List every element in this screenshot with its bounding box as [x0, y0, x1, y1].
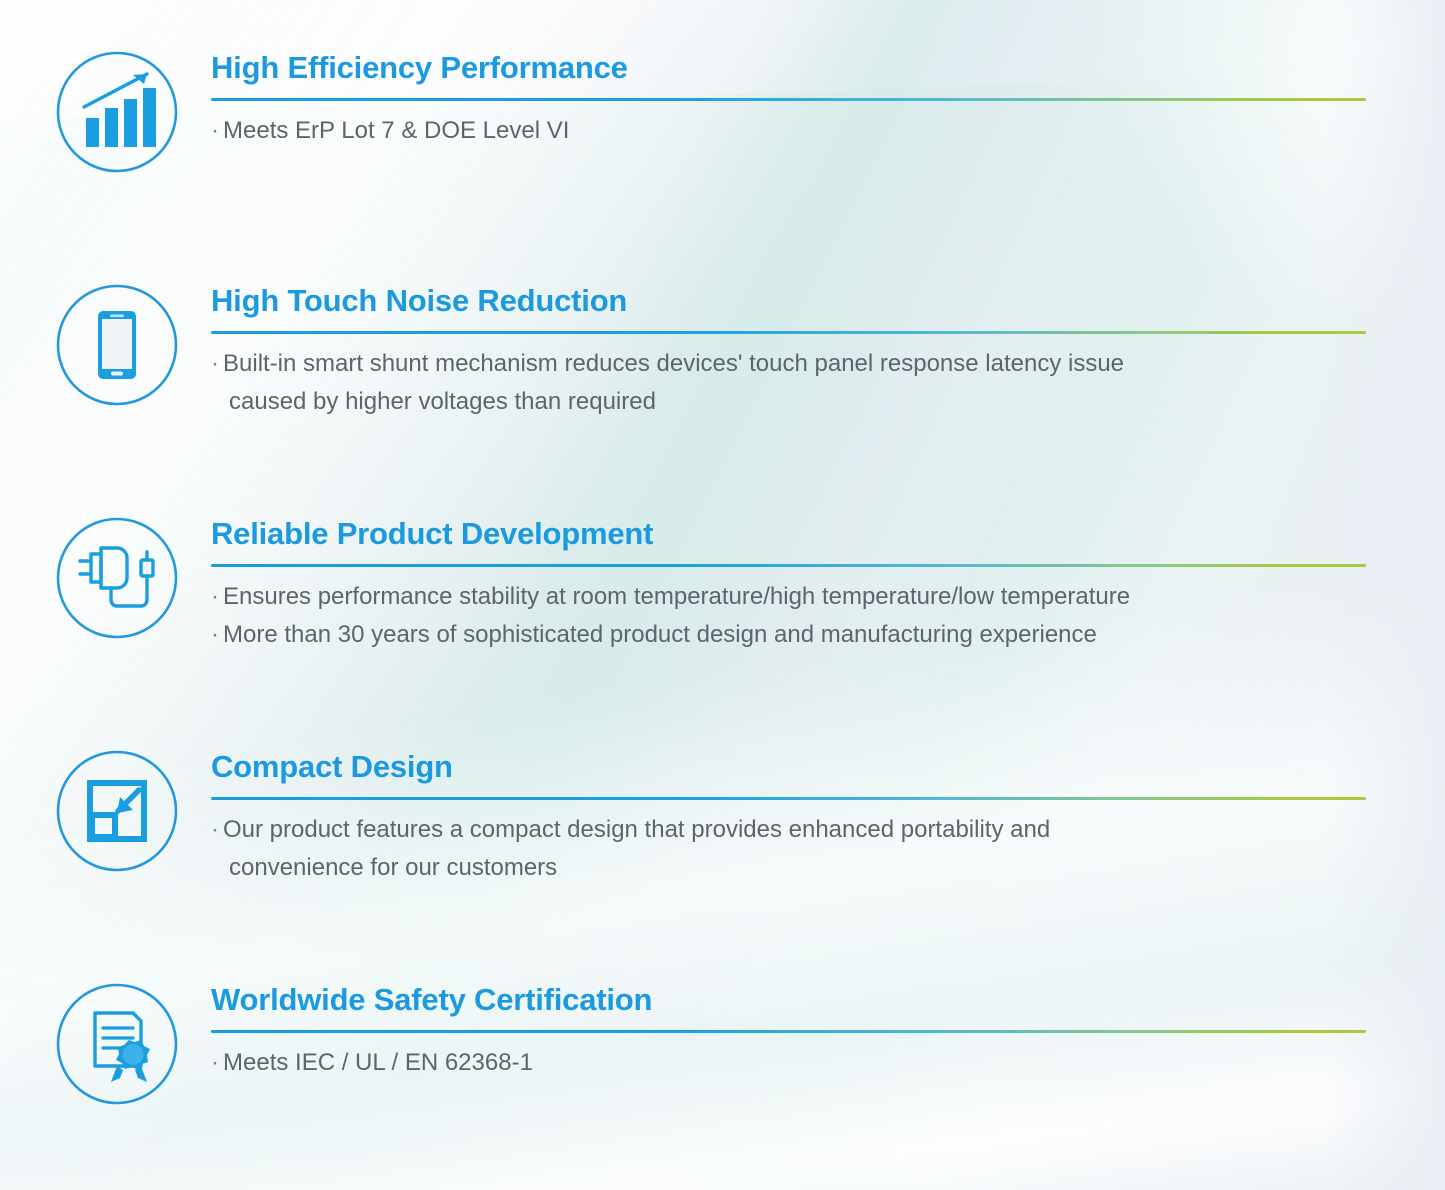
compact-resize-icon [55, 749, 179, 873]
bullet-text-continued: caused by higher voltages than required [211, 383, 1371, 421]
feature-divider [211, 564, 1366, 567]
feature-body: High Efficiency Performance ·Meets ErP L… [211, 50, 1371, 150]
feature-item: High Efficiency Performance ·Meets ErP L… [0, 50, 1445, 283]
bullet-marker: · [211, 583, 219, 610]
bullet-marker: · [211, 350, 219, 377]
feature-title: High Efficiency Performance [211, 50, 1371, 86]
feature-bullets: ·Meets ErP Lot 7 & DOE Level VI [211, 112, 1371, 150]
feature-title: High Touch Noise Reduction [211, 283, 1371, 319]
bullet-item: ·Meets ErP Lot 7 & DOE Level VI [211, 112, 1371, 150]
bullet-item: ·More than 30 years of sophisticated pro… [211, 616, 1371, 654]
bullet-text: Meets IEC / UL / EN 62368-1 [223, 1049, 533, 1076]
feature-item: Compact Design ·Our product features a c… [0, 749, 1445, 982]
bullet-item: ·Ensures performance stability at room t… [211, 578, 1371, 616]
feature-body: High Touch Noise Reduction ·Built-in sma… [211, 283, 1371, 421]
feature-body: Worldwide Safety Certification ·Meets IE… [211, 982, 1371, 1082]
certificate-award-icon [55, 982, 179, 1106]
feature-item: Worldwide Safety Certification ·Meets IE… [0, 982, 1445, 1190]
bullet-text: Meets ErP Lot 7 & DOE Level VI [223, 117, 569, 144]
feature-item: High Touch Noise Reduction ·Built-in sma… [0, 283, 1445, 516]
bullet-item: ·Meets IEC / UL / EN 62368-1 [211, 1044, 1371, 1082]
feature-bullets: ·Ensures performance stability at room t… [211, 578, 1371, 654]
feature-divider [211, 331, 1366, 334]
bullet-marker: · [211, 621, 219, 648]
feature-bullets: ·Meets IEC / UL / EN 62368-1 [211, 1044, 1371, 1082]
feature-list-page: High Efficiency Performance ·Meets ErP L… [0, 0, 1445, 1190]
feature-body: Reliable Product Development ·Ensures pe… [211, 516, 1371, 654]
feature-divider [211, 1030, 1366, 1033]
bullet-marker: · [211, 117, 219, 144]
feature-bullets: ·Our product features a compact design t… [211, 811, 1371, 887]
bullet-text: Our product features a compact design th… [223, 816, 1050, 843]
feature-title: Compact Design [211, 749, 1371, 785]
bullet-item: ·Our product features a compact design t… [211, 811, 1371, 887]
bar-chart-growth-icon [55, 50, 179, 174]
feature-divider [211, 98, 1366, 101]
bullet-text: Built-in smart shunt mechanism reduces d… [223, 350, 1124, 377]
feature-title: Worldwide Safety Certification [211, 982, 1371, 1018]
bullet-text-continued: convenience for our customers [211, 849, 1371, 887]
bullet-marker: · [211, 1049, 219, 1076]
smartphone-icon [55, 283, 179, 407]
bullet-text: More than 30 years of sophisticated prod… [223, 621, 1097, 648]
feature-item: Reliable Product Development ·Ensures pe… [0, 516, 1445, 749]
power-adapter-icon [55, 516, 179, 640]
feature-title: Reliable Product Development [211, 516, 1371, 552]
feature-divider [211, 797, 1366, 800]
feature-list: High Efficiency Performance ·Meets ErP L… [0, 0, 1445, 1190]
bullet-marker: · [211, 816, 219, 843]
feature-body: Compact Design ·Our product features a c… [211, 749, 1371, 887]
bullet-item: ·Built-in smart shunt mechanism reduces … [211, 345, 1371, 421]
feature-bullets: ·Built-in smart shunt mechanism reduces … [211, 345, 1371, 421]
bullet-text: Ensures performance stability at room te… [223, 583, 1130, 610]
